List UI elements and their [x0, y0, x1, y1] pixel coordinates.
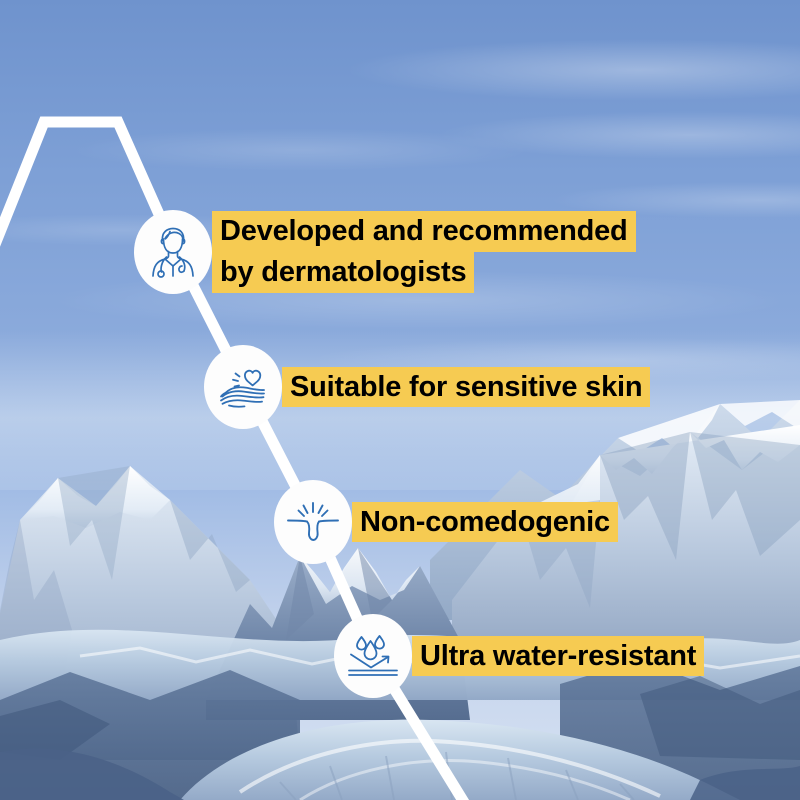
icon-bubble-water-resistant — [334, 614, 412, 698]
label-line: Non-comedogenic — [352, 502, 618, 543]
feature-label-non-comedogenic: Non-comedogenic — [352, 502, 618, 543]
label-line: by dermatologists — [212, 252, 474, 293]
feature-row-water-resistant: Ultra water-resistant — [334, 614, 704, 698]
skin-pore-icon — [286, 501, 340, 543]
doctor-stethoscope-icon — [148, 226, 198, 278]
label-line: Developed and recommended — [212, 211, 636, 252]
feature-label-sensitive-skin: Suitable for sensitive skin — [282, 367, 650, 408]
label-line: Ultra water-resistant — [412, 636, 704, 677]
feature-row-non-comedogenic: Non-comedogenic — [274, 480, 618, 564]
feature-row-dermatologists: Developed and recommended by dermatologi… — [134, 210, 636, 294]
feature-poster: Developed and recommended by dermatologi… — [0, 0, 800, 800]
hand-holding-heart-icon — [217, 365, 269, 409]
feature-label-water-resistant: Ultra water-resistant — [412, 636, 704, 677]
icon-bubble-sensitive-skin — [204, 345, 282, 429]
icon-bubble-non-comedogenic — [274, 480, 352, 564]
water-droplets-repelled-icon — [346, 633, 400, 679]
feature-row-sensitive-skin: Suitable for sensitive skin — [204, 345, 650, 429]
label-line: Suitable for sensitive skin — [282, 367, 650, 408]
feature-label-dermatologists: Developed and recommended by dermatologi… — [212, 211, 636, 293]
icon-bubble-dermatologists — [134, 210, 212, 294]
